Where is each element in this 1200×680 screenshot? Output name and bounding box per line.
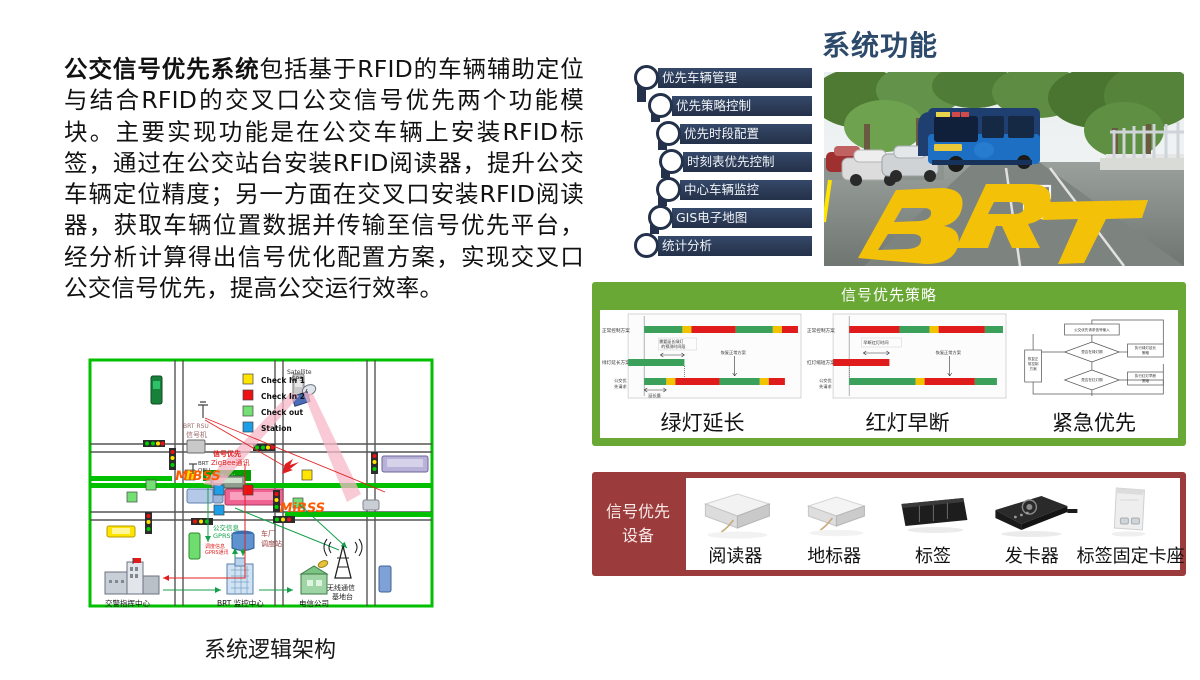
svg-text:车厂: 车厂 xyxy=(261,529,275,538)
function-item-4[interactable]: 中心车辆监控 xyxy=(634,180,812,200)
equipment-label-line1: 信号优先 xyxy=(606,500,670,524)
function-label: 时刻表优先控制 xyxy=(683,152,775,172)
strategy-figure: 正常控制方案 早断红灯时间 红灯缩短方案 xyxy=(805,312,1010,404)
svg-text:恢复正: 恢复正 xyxy=(1028,356,1039,361)
strategy-caption: 红灯早断 xyxy=(805,408,1010,438)
equipment-caption: 发卡器 xyxy=(976,545,1087,569)
equipment-caption: 标签 xyxy=(878,545,989,569)
equipment-label-line2: 设备 xyxy=(622,524,654,548)
equipment-caption: 地标器 xyxy=(779,545,890,569)
svg-text:方案: 方案 xyxy=(1030,366,1038,371)
svg-text:BRT RSU: BRT RSU xyxy=(183,423,209,430)
equipment-list: 阅读器 地标器 xyxy=(686,478,1180,570)
function-item-5[interactable]: GIS电子地图 xyxy=(634,208,812,228)
svg-text:恢复正常方案: 恢复正常方案 xyxy=(936,349,962,356)
system-architecture-diagram: BRT Station xyxy=(85,352,437,614)
svg-text:交警指挥中心: 交警指挥中心 xyxy=(105,598,150,608)
strategy-emergency-priority: 公交优先请求信号输入 是否在绿灯期 是否在红灯期 执行绿灯延长策略 执行红灯早断… xyxy=(1010,310,1178,438)
svg-text:早断红灯时间: 早断红灯时间 xyxy=(863,339,888,346)
card-issuer-image xyxy=(982,480,1081,542)
svg-text:调度站: 调度站 xyxy=(261,539,282,548)
svg-text:ZigBee通讯: ZigBee通讯 xyxy=(211,458,250,467)
equipment-caption: 阅读器 xyxy=(680,545,791,569)
svg-text:BRT: BRT xyxy=(198,461,209,467)
function-item-6[interactable]: 统计分析 xyxy=(634,236,812,256)
svg-text:执行绿灯延长: 执行绿灯延长 xyxy=(1135,345,1157,350)
equipment-panel: 信号优先 设备 阅读器 xyxy=(592,472,1186,576)
intro-rest: 包括基于RFID的车辆辅助定位与结合RFID的交叉口公交信号优先两个功能模块。主… xyxy=(64,55,584,302)
svg-text:BRT 监控中心: BRT 监控中心 xyxy=(217,598,264,608)
equipment-panel-label: 信号优先 设备 xyxy=(592,472,684,576)
svg-text:绿灯延长方案: 绿灯延长方案 xyxy=(602,359,630,366)
strategy-panel-body: 正常控制方案 需要延长绿灯 的预测时间段 xyxy=(600,310,1178,438)
svg-text:Check In 1: Check In 1 xyxy=(261,376,305,385)
svg-text:Station: Station xyxy=(261,424,292,433)
svg-text:公交优: 公交优 xyxy=(819,377,832,384)
chain-dot xyxy=(659,149,684,174)
svg-text:常控制: 常控制 xyxy=(1028,361,1039,366)
equipment-item-landmark: 地标器 xyxy=(785,478,884,570)
function-chain-list: 优先车辆管理 优先策略控制 优先时段配置 时刻表优先控制 中心车辆监控 xyxy=(634,68,812,272)
architecture-caption: 系统逻辑架构 xyxy=(100,632,440,664)
chain-dot xyxy=(648,93,673,118)
equipment-caption: 标签固定卡座 xyxy=(1075,545,1186,569)
svg-text:是否在红灯期: 是否在红灯期 xyxy=(1081,377,1103,382)
brt-lane-photo: BRT xyxy=(824,72,1184,266)
chain-dot xyxy=(648,205,673,230)
svg-text:MiBSS: MiBSS xyxy=(278,501,326,516)
svg-text:延长量: 延长量 xyxy=(648,392,661,399)
svg-text:先请求: 先请求 xyxy=(614,383,627,390)
function-label: GIS电子地图 xyxy=(672,208,747,228)
function-label: 优先时段配置 xyxy=(680,124,759,144)
function-item-1[interactable]: 优先策略控制 xyxy=(634,96,812,116)
svg-text:信号机: 信号机 xyxy=(186,430,207,439)
chain-dot xyxy=(634,65,659,90)
landmark-device-image xyxy=(785,480,884,542)
equipment-item-card-issuer: 发卡器 xyxy=(982,478,1081,570)
slide-root: 公交信号优先系统包括基于RFID的车辆辅助定位与结合RFID的交叉口公交信号优先… xyxy=(0,0,1200,680)
svg-text:公交信息: 公交信息 xyxy=(213,523,240,532)
strategy-caption: 绿灯延长 xyxy=(600,408,805,438)
function-label: 统计分析 xyxy=(658,236,712,256)
strategy-panel-title: 信号优先策略 xyxy=(592,282,1186,308)
svg-text:正常控制方案: 正常控制方案 xyxy=(602,327,630,334)
strategy-red-truncation: 正常控制方案 早断红灯时间 红灯缩短方案 xyxy=(805,310,1010,438)
chain-dot xyxy=(656,121,681,146)
svg-text:策略: 策略 xyxy=(1142,378,1150,383)
function-label: 优先策略控制 xyxy=(672,96,751,116)
svg-text:是否在绿灯期: 是否在绿灯期 xyxy=(1081,349,1103,354)
equipment-item-tag: 标签 xyxy=(884,478,983,570)
bus-brand-1: MiBSS xyxy=(174,469,222,484)
svg-text:基地台: 基地台 xyxy=(332,592,353,601)
tag-image xyxy=(884,480,983,542)
svg-text:MiBSS: MiBSS xyxy=(174,469,222,484)
svg-text:先请求: 先请求 xyxy=(819,383,832,390)
svg-text:Check out: Check out xyxy=(261,408,303,417)
page-title: 系统功能 xyxy=(822,24,938,64)
svg-text:公交优先请求信号输入: 公交优先请求信号输入 xyxy=(1074,327,1110,332)
strategy-green-extension: 正常控制方案 需要延长绿灯 的预测时间段 xyxy=(600,310,805,438)
svg-text:执行红灯早断: 执行红灯早断 xyxy=(1135,373,1157,378)
function-label: 中心车辆监控 xyxy=(680,180,759,200)
strategy-figure: 正常控制方案 需要延长绿灯 的预测时间段 xyxy=(600,312,805,404)
reader-image xyxy=(686,480,785,542)
svg-text:Check In 2: Check In 2 xyxy=(261,392,305,401)
equipment-item-reader: 阅读器 xyxy=(686,478,785,570)
function-label: 优先车辆管理 xyxy=(658,68,737,88)
svg-text:策略: 策略 xyxy=(1142,350,1150,355)
svg-text:无线通信: 无线通信 xyxy=(327,583,355,592)
satellite-gps-label: Satellite xyxy=(287,369,312,376)
intro-paragraph: 公交信号优先系统包括基于RFID的车辆辅助定位与结合RFID的交叉口公交信号优先… xyxy=(64,54,584,304)
svg-text:电信公司: 电信公司 xyxy=(299,598,329,608)
svg-text:GPRS通讯: GPRS通讯 xyxy=(205,549,229,556)
svg-text:公交优: 公交优 xyxy=(614,377,627,384)
function-item-2[interactable]: 优先时段配置 xyxy=(634,124,812,144)
strategy-panel: 信号优先策略 正常控制方案 xyxy=(592,282,1186,446)
svg-text:正常控制方案: 正常控制方案 xyxy=(807,327,835,334)
strategy-figure: 公交优先请求信号输入 是否在绿灯期 是否在红灯期 执行绿灯延长策略 执行红灯早断… xyxy=(1010,312,1178,404)
function-item-0[interactable]: 优先车辆管理 xyxy=(634,68,812,88)
strategy-caption: 紧急优先 xyxy=(1010,408,1178,438)
equipment-item-tag-holder: 标签固定卡座 xyxy=(1081,478,1180,570)
svg-text:恢复正常方案: 恢复正常方案 xyxy=(721,349,747,356)
chain-dot xyxy=(656,177,681,202)
intro-lead: 公交信号优先系统 xyxy=(64,55,260,83)
function-item-3[interactable]: 时刻表优先控制 xyxy=(634,152,812,172)
tag-holder-image xyxy=(1081,480,1180,542)
svg-text:调度信息: 调度信息 xyxy=(205,543,225,550)
svg-text:信号优先: 信号优先 xyxy=(213,449,241,458)
svg-text:的预测时间段: 的预测时间段 xyxy=(661,343,685,349)
svg-text:红灯缩短方案: 红灯缩短方案 xyxy=(807,359,835,366)
bus-vehicle xyxy=(918,108,1040,172)
chain-dot xyxy=(634,233,659,258)
